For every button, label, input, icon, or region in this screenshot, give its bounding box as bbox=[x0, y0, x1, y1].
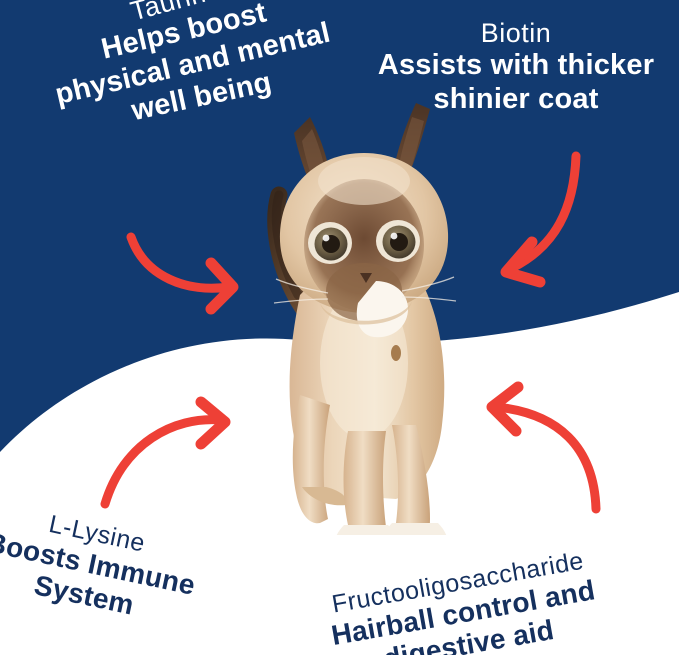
arrow-to-taurine-tail bbox=[125, 225, 255, 310]
arrow-to-biotin-coat bbox=[470, 150, 585, 290]
callout-biotin-benefit-line2: shinier coat bbox=[358, 83, 674, 117]
callout-biotin: Biotin Assists with thicker shinier coat bbox=[358, 18, 674, 117]
arrow-to-lysine-body bbox=[95, 398, 240, 510]
callout-biotin-benefit-line1: Assists with thicker bbox=[358, 49, 674, 83]
infographic-canvas: Taurine Helps boost physical and mental … bbox=[0, 0, 679, 655]
callout-biotin-nutrient: Biotin bbox=[358, 18, 674, 49]
arrow-to-fos-belly bbox=[468, 385, 613, 515]
